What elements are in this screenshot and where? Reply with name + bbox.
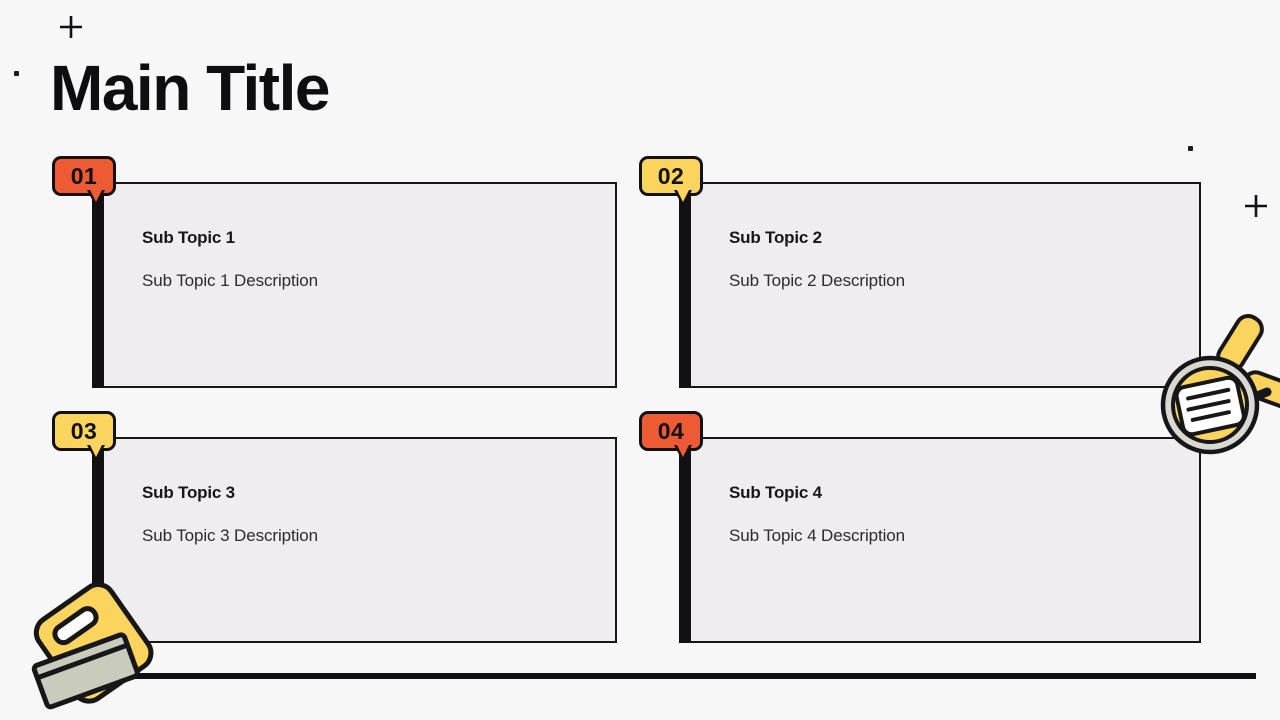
card-left-bar <box>679 182 691 388</box>
card-heading: Sub Topic 2 <box>729 228 1175 248</box>
card-number-label: 04 <box>658 420 685 443</box>
card-left-bar <box>679 437 691 643</box>
badge-tail <box>674 445 692 462</box>
card-number-label: 02 <box>658 165 685 188</box>
card-description: Sub Topic 2 Description <box>729 270 1175 291</box>
card-heading: Sub Topic 4 <box>729 483 1175 503</box>
card-heading: Sub Topic 1 <box>142 228 591 248</box>
card-heading: Sub Topic 3 <box>142 483 591 503</box>
plus-icon <box>1243 193 1269 219</box>
tag-card-icon <box>22 578 167 720</box>
card-left-bar <box>92 182 104 388</box>
card-description: Sub Topic 3 Description <box>142 525 591 546</box>
topic-card[interactable]: Sub Topic 4 Sub Topic 4 Description <box>687 437 1201 643</box>
dot-icon <box>1188 146 1193 151</box>
card-description: Sub Topic 1 Description <box>142 270 591 291</box>
badge-tail <box>87 445 105 462</box>
badge-tail <box>87 190 105 207</box>
card-number-badge[interactable]: 02 <box>639 156 703 196</box>
card-number-label: 01 <box>71 165 98 188</box>
topic-card[interactable]: Sub Topic 1 Sub Topic 1 Description <box>100 182 617 388</box>
card-number-badge[interactable]: 04 <box>639 411 703 451</box>
plus-icon <box>58 14 84 40</box>
badge-tail <box>674 190 692 207</box>
topic-card[interactable]: Sub Topic 3 Sub Topic 3 Description <box>100 437 617 643</box>
page-title: Main Title <box>50 52 329 126</box>
card-number-label: 03 <box>71 420 98 443</box>
slide-canvas: Main Title Sub Topic 1 Sub Topic 1 Descr… <box>0 0 1280 720</box>
card-description: Sub Topic 4 Description <box>729 525 1175 546</box>
dot-icon <box>14 71 19 76</box>
magnifying-glass-icon <box>1155 300 1280 470</box>
bottom-divider <box>38 673 1256 679</box>
card-number-badge[interactable]: 01 <box>52 156 116 196</box>
topic-card[interactable]: Sub Topic 2 Sub Topic 2 Description <box>687 182 1201 388</box>
card-number-badge[interactable]: 03 <box>52 411 116 451</box>
